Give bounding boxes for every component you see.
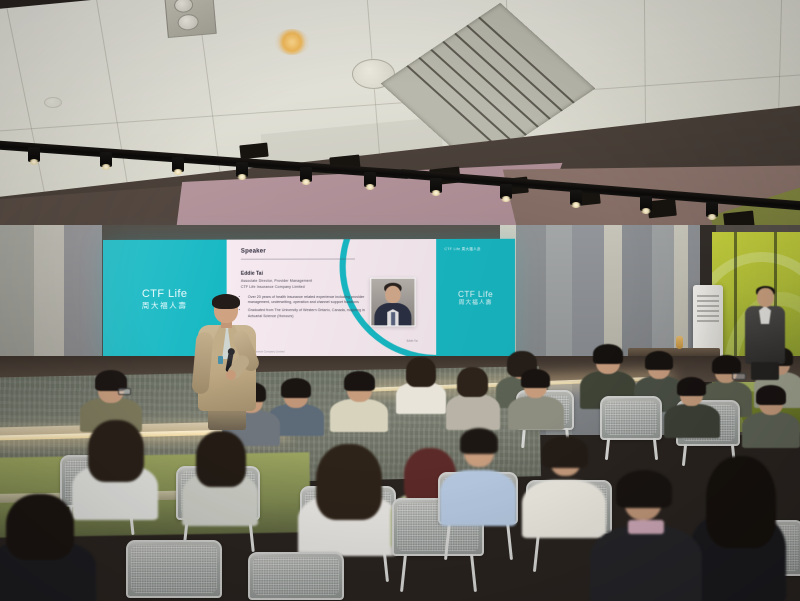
audience-member [446,368,500,428]
track-spotlight [300,167,312,182]
audience-member [0,500,96,601]
slide-heading-rule [241,258,355,259]
audience-member [690,456,786,601]
track-spotlight [172,157,184,172]
brand-name-en: CTF Life [458,291,493,299]
chair [600,396,662,458]
brand-name-en: CTF Life [142,289,188,300]
audience-member [590,470,702,601]
ceiling-sprinkler-disc [44,97,62,108]
audience-member [396,358,446,412]
slide-bullet-item: Graduated from The University of Western… [248,308,372,319]
audience-member [298,444,398,556]
track-spotlight [570,190,582,205]
chair [248,552,344,601]
slide-bullet-list: Over 20 years of health insurance relate… [241,295,373,322]
audience-member [508,370,564,426]
slide-speaker-company: CTF Life Insurance Company Limited [241,285,305,290]
ceiling-fixture-box [164,0,216,38]
track-spotlight [500,184,512,199]
presenter-speaker [196,296,258,426]
slide-speaker-name: Eddie Tai [241,271,263,277]
track-spotlight [236,162,248,177]
audience-member [664,378,720,434]
track-spotlight [100,152,112,167]
slide-content-panel: Speaker Eddie Tai Associate Director, Pr… [227,239,437,359]
audience-member [182,432,258,526]
audience-member [742,386,800,446]
ceiling-baffle-block [239,143,268,160]
table-vase [676,336,683,349]
track-spotlight [364,172,376,187]
led-presentation-screen: CTF Life 周大福人壽 Speaker Eddie Tai Associa… [103,239,515,359]
presenter-lanyard-badge [218,356,223,364]
chair [126,540,222,601]
track-spotlight [28,147,40,162]
brand-name-zh: 周大福人壽 [459,301,493,307]
screen-brand-right: CTF Life 周大福人壽 [436,239,515,359]
conference-hall-photo: CTF Life 周大福人壽 Speaker Eddie Tai Associa… [0,0,800,601]
slide-speaker-title: Associate Director, Provider Management [241,279,312,285]
audience-member [440,428,516,524]
slide-corner-logo: CTF Life 周大福人壽 [444,246,480,251]
ceiling-downlight-warm [274,29,310,55]
slide-photo-caption: Eddie Tai [407,340,418,343]
audience-member [330,372,388,430]
slide-heading: Speaker [241,249,266,255]
brand-name-zh: 周大福人壽 [142,302,188,310]
track-spotlight [706,202,718,217]
standing-staff-member [745,288,785,380]
slide-bullet-item: Over 20 years of health insurance relate… [248,295,372,306]
slide-speaker-photo [370,278,415,327]
track-spotlight [640,196,652,211]
track-spotlight [430,178,442,193]
